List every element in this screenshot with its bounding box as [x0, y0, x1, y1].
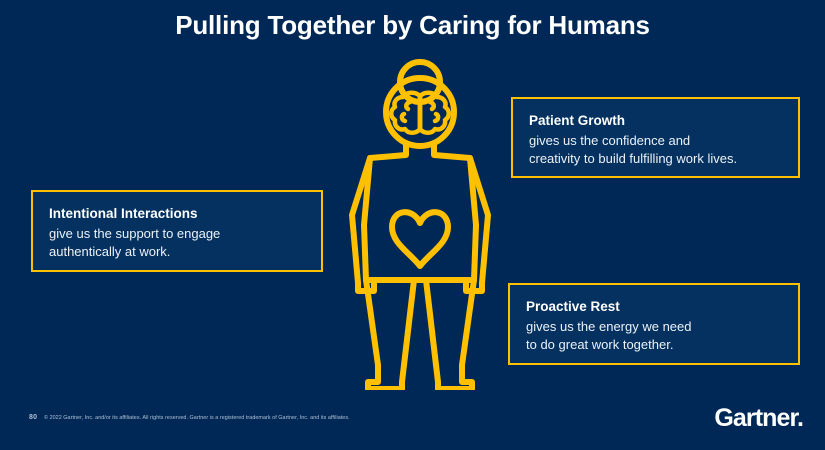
callout-title: Patient Growth — [529, 111, 784, 130]
callout-body: give us the support to engage authentica… — [49, 225, 307, 261]
callout-body: gives us the energy we need to do great … — [526, 318, 784, 354]
human-figure-icon — [340, 55, 500, 390]
callout-body-line: creativity to build fulfilling work live… — [529, 150, 784, 168]
callout-intentional-interactions: Intentional Interactions give us the sup… — [31, 190, 323, 272]
callout-title: Intentional Interactions — [49, 204, 307, 223]
callout-body-line: to do great work together. — [526, 336, 784, 354]
callout-body-line: gives us the energy we need — [526, 318, 784, 336]
legs-icon — [366, 280, 474, 389]
callout-body-line: gives us the confidence and — [529, 132, 784, 150]
heart-icon — [392, 212, 448, 266]
page-number: 80 — [29, 414, 37, 421]
callout-title: Proactive Rest — [526, 297, 784, 316]
callout-body: gives us the confidence and creativity t… — [529, 132, 784, 168]
gartner-logo: Gartner. — [714, 404, 803, 432]
slide-canvas: Pulling Together by Caring for Humans — [0, 0, 825, 450]
brain-icon — [391, 93, 449, 133]
callout-patient-growth: Patient Growth gives us the confidence a… — [511, 97, 800, 178]
arms-icon — [358, 283, 482, 291]
callout-body-line: give us the support to engage — [49, 225, 307, 243]
page-title: Pulling Together by Caring for Humans — [0, 8, 825, 42]
callout-proactive-rest: Proactive Rest gives us the energy we ne… — [508, 283, 800, 365]
copyright-notice: © 2022 Gartner, Inc. and/or its affiliat… — [44, 415, 350, 421]
callout-body-line: authentically at work. — [49, 243, 307, 261]
